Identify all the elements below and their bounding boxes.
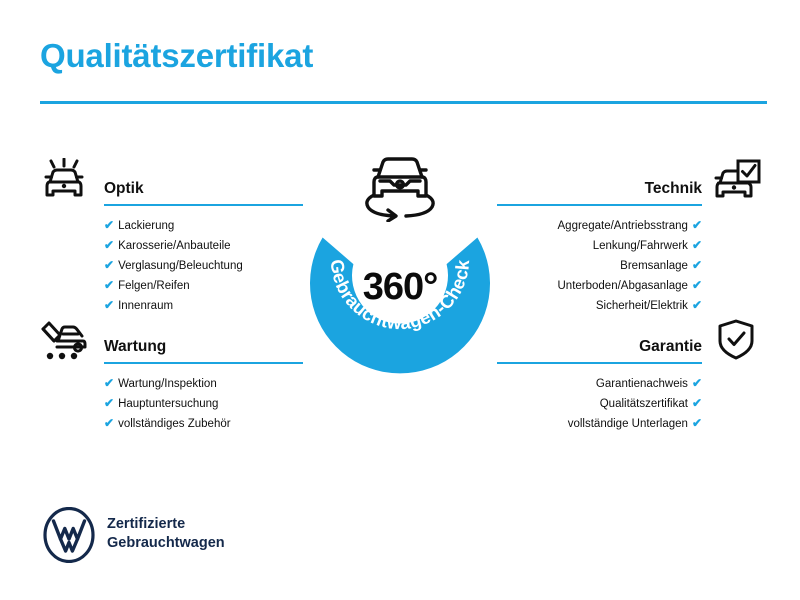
list-item-label: Unterboden/Abgasanlage (558, 280, 688, 292)
check-icon: ✔ (104, 218, 114, 232)
list-item: ✔vollständiges Zubehör (38, 414, 303, 434)
vw-roundel-icon (41, 507, 97, 563)
list-item-label: Garantienachweis (596, 378, 688, 390)
check-icon: ✔ (692, 258, 702, 272)
list-item-label: Innenraum (118, 300, 173, 312)
list-item: Garantienachweis✔ (497, 374, 762, 394)
section-optik-title: Optik (104, 181, 144, 197)
badge-degrees-label: 360° (294, 266, 506, 309)
check-icon: ✔ (104, 238, 114, 252)
check-icon: ✔ (692, 218, 702, 232)
360-check-badge: Gebrauchtwagen-Check 360° (294, 150, 506, 382)
list-item: ✔Innenraum (38, 296, 303, 316)
section-garantie-title: Garantie (639, 339, 702, 355)
list-item-label: vollständige Unterlagen (568, 418, 688, 430)
list-item-label: Lackierung (118, 220, 174, 232)
check-icon: ✔ (692, 238, 702, 252)
vw-wordmark-line1: Zertifizierte (107, 515, 225, 534)
list-item: ✔Hauptuntersuchung (38, 394, 303, 414)
list-item-label: Bremsanlage (620, 260, 688, 272)
list-item: Sicherheit/Elektrik✔ (497, 296, 762, 316)
check-icon: ✔ (104, 278, 114, 292)
check-icon: ✔ (692, 298, 702, 312)
list-item: ✔Felgen/Reifen (38, 276, 303, 296)
section-optik-header: Optik (38, 160, 303, 206)
list-item: Aggregate/Antriebsstrang✔ (497, 216, 762, 236)
list-item-label: Qualitätszertifikat (600, 398, 688, 410)
list-item: ✔Lackierung (38, 216, 303, 236)
list-item: ✔Karosserie/Anbauteile (38, 236, 303, 256)
section-technik: Technik Aggregate/Antriebsstrang✔ Lenkun… (497, 160, 762, 316)
section-wartung-header: Wartung (38, 318, 303, 364)
section-garantie-underline (497, 362, 702, 364)
list-item: Lenkung/Fahrwerk✔ (497, 236, 762, 256)
section-technik-underline (497, 204, 702, 206)
page-title: Qualitätszertifikat (40, 38, 313, 74)
section-technik-title: Technik (645, 181, 702, 197)
list-item-label: Lenkung/Fahrwerk (593, 240, 688, 252)
list-item-label: Karosserie/Anbauteile (118, 240, 231, 252)
section-wartung-list: ✔Wartung/Inspektion ✔Hauptuntersuchung ✔… (38, 374, 303, 434)
list-item-label: Hauptuntersuchung (118, 398, 218, 410)
list-item-label: vollständiges Zubehör (118, 418, 231, 430)
check-icon: ✔ (104, 396, 114, 410)
check-icon: ✔ (104, 416, 114, 430)
check-icon: ✔ (692, 416, 702, 430)
section-optik: Optik ✔Lackierung ✔Karosserie/Anbauteile… (38, 160, 303, 316)
list-item: Unterboden/Abgasanlage✔ (497, 276, 762, 296)
check-icon: ✔ (104, 376, 114, 390)
list-item: vollständige Unterlagen✔ (497, 414, 762, 434)
list-item: Qualitätszertifikat✔ (497, 394, 762, 414)
list-item-label: Wartung/Inspektion (118, 378, 217, 390)
list-item: ✔Wartung/Inspektion (38, 374, 303, 394)
car-service-pen-icon (38, 316, 90, 362)
title-divider (40, 101, 767, 104)
check-icon: ✔ (104, 258, 114, 272)
shield-check-icon (710, 316, 762, 362)
section-wartung: Wartung ✔Wartung/Inspektion ✔Hauptunters… (38, 318, 303, 434)
section-wartung-title: Wartung (104, 339, 166, 355)
section-garantie-header: Garantie (497, 318, 762, 364)
list-item: Bremsanlage✔ (497, 256, 762, 276)
vw-wordmark-line2: Gebrauchtwagen (107, 534, 225, 553)
section-wartung-underline (104, 362, 303, 364)
list-item: ✔Verglasung/Beleuchtung (38, 256, 303, 276)
car-rotate-icon (354, 150, 446, 222)
list-item-label: Sicherheit/Elektrik (596, 300, 688, 312)
section-garantie: Garantie Garantienachweis✔ Qualitätszert… (497, 318, 762, 434)
section-optik-underline (104, 204, 303, 206)
check-icon: ✔ (104, 298, 114, 312)
check-icon: ✔ (692, 278, 702, 292)
section-optik-list: ✔Lackierung ✔Karosserie/Anbauteile ✔Verg… (38, 216, 303, 316)
section-garantie-list: Garantienachweis✔ Qualitätszertifikat✔ v… (497, 374, 762, 434)
list-item-label: Aggregate/Antriebsstrang (558, 220, 688, 232)
vw-wordmark: Zertifizierte Gebrauchtwagen (107, 515, 225, 553)
list-item-label: Felgen/Reifen (118, 280, 190, 292)
list-item-label: Verglasung/Beleuchtung (118, 260, 243, 272)
car-shine-icon (38, 158, 90, 204)
check-icon: ✔ (692, 396, 702, 410)
section-technik-list: Aggregate/Antriebsstrang✔ Lenkung/Fahrwe… (497, 216, 762, 316)
section-technik-header: Technik (497, 160, 762, 206)
check-icon: ✔ (692, 376, 702, 390)
car-checkbox-icon (710, 158, 762, 204)
